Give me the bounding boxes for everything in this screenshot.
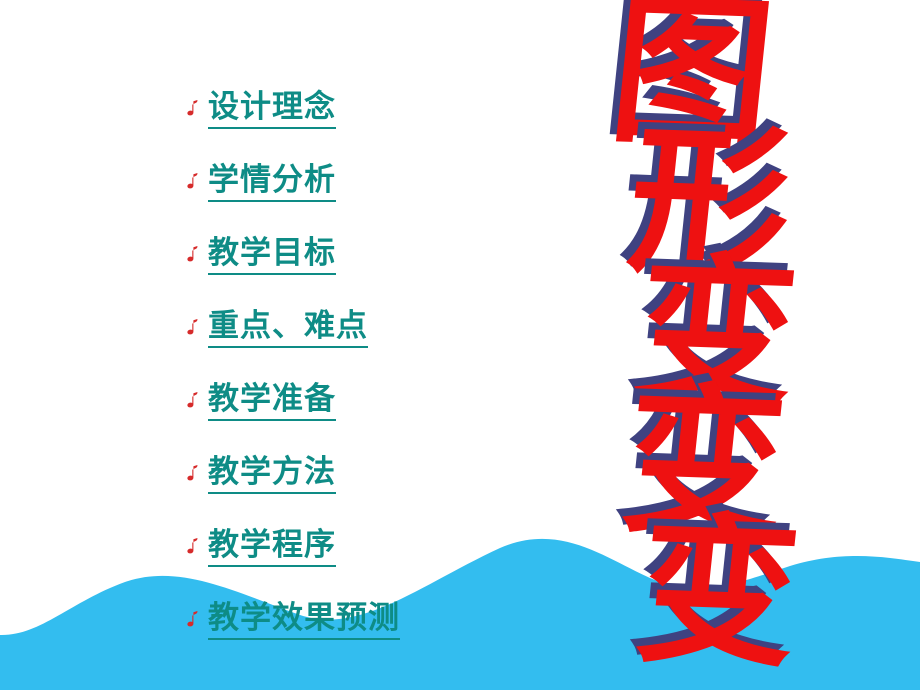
agenda-item-label: 设计理念 <box>208 88 336 130</box>
music-note-icon <box>182 173 208 193</box>
list-item[interactable]: 重点、难点 <box>182 291 582 364</box>
music-note-icon <box>182 246 208 266</box>
music-note-icon <box>182 538 208 558</box>
page-title: 图 图 形 形 变 变 变 变 变 变 <box>612 10 912 690</box>
list-item[interactable]: 教学效果预测 <box>182 583 582 656</box>
agenda-item-label: 教学方法 <box>208 453 336 495</box>
agenda-item-label: 学情分析 <box>208 161 336 203</box>
agenda-list: 设计理念 学情分析 教学目标 重点、难点 <box>182 72 582 656</box>
title-char-face: 变 <box>632 527 805 661</box>
list-item[interactable]: 设计理念 <box>182 72 582 145</box>
agenda-item-label: 教学程序 <box>208 526 336 568</box>
music-note-icon <box>182 392 208 412</box>
presentation-slide: 设计理念 学情分析 教学目标 重点、难点 <box>0 0 920 690</box>
agenda-item-label: 教学目标 <box>208 234 336 276</box>
list-item[interactable]: 学情分析 <box>182 145 582 218</box>
agenda-item-label: 教学效果预测 <box>208 599 400 641</box>
music-note-icon <box>182 319 208 339</box>
list-item[interactable]: 教学方法 <box>182 437 582 510</box>
agenda-item-label: 重点、难点 <box>208 307 368 349</box>
title-char: 变 变 <box>631 527 834 664</box>
music-note-icon <box>182 611 208 631</box>
list-item[interactable]: 教学准备 <box>182 364 582 437</box>
list-item[interactable]: 教学目标 <box>182 218 582 291</box>
music-note-icon <box>182 465 208 485</box>
agenda-item-label: 教学准备 <box>208 380 336 422</box>
music-note-icon <box>182 100 208 120</box>
list-item[interactable]: 教学程序 <box>182 510 582 583</box>
